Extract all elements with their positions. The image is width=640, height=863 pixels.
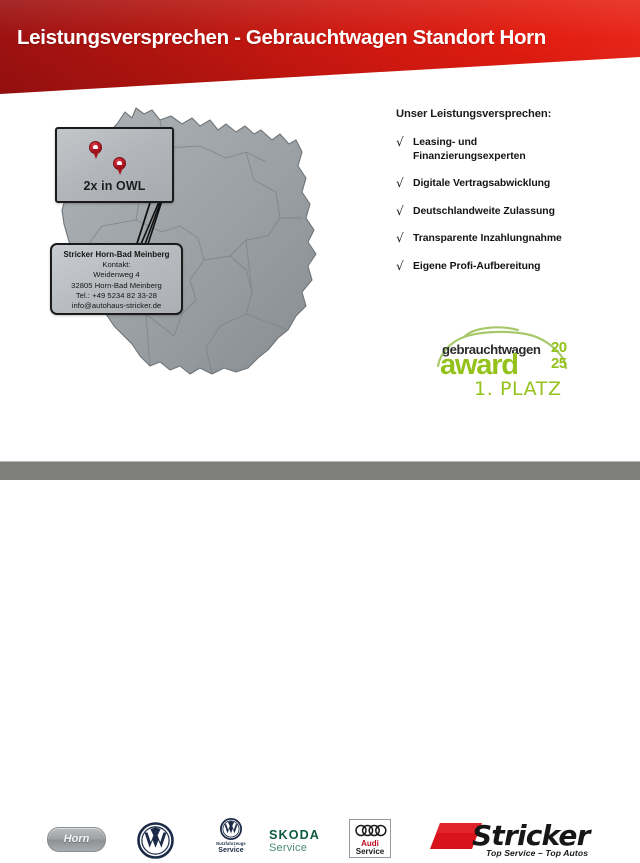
check-icon: √ xyxy=(396,136,413,150)
award-rank: 1. PLATZ xyxy=(474,378,562,400)
location-pin-icon xyxy=(89,141,102,159)
address-email: info@autohaus-stricker.de xyxy=(52,301,181,311)
pin-tip xyxy=(116,165,124,175)
address-line: Stricker Horn-Bad Meinberg xyxy=(52,250,181,260)
award-year: 20 25 xyxy=(551,340,585,371)
vw-logo-icon xyxy=(137,822,174,859)
check-icon: √ xyxy=(396,232,413,246)
address-phone: Tel.: +49 5234 82 33-28 xyxy=(52,291,181,301)
footer-bar xyxy=(0,462,640,480)
owl-callout-box: 2x in OWL xyxy=(55,127,174,203)
location-pin-icon xyxy=(113,157,126,175)
vw-nutzfahrzeuge-service-logo: Nutzfahrzeuge Service xyxy=(203,818,259,854)
promise-item-label: Transparente Inzahlungnahme xyxy=(413,232,562,246)
pin-tip xyxy=(92,149,100,159)
check-icon: √ xyxy=(396,205,413,219)
check-icon: √ xyxy=(396,260,413,274)
promise-item-label: Eigene Profi-Aufbereitung xyxy=(413,260,540,274)
promise-panel: Unser Leistungsversprechen: √ Leasing- u… xyxy=(396,108,636,287)
stricker-logo: Stricker Top Service – Top Autos xyxy=(428,817,598,863)
award-year-bottom: 25 xyxy=(551,356,585,372)
skoda-wordmark: SKODA xyxy=(269,829,320,842)
page-title: Leistungsversprechen - Gebrauchtwagen St… xyxy=(17,26,546,50)
promise-item: √ Leasing- undFinanzierungsexperten xyxy=(396,136,636,163)
award-title: award xyxy=(440,350,518,380)
brand-logo-strip: Horn Nutzfahrzeuge Service SKODA Service xyxy=(0,405,640,462)
dealer-location-label: Horn xyxy=(48,828,105,850)
award-year-top: 20 xyxy=(551,340,585,356)
address-line: Kontakt: xyxy=(52,260,181,270)
promise-item-label: Digitale Vertragsabwicklung xyxy=(413,177,550,191)
dealer-location-pill[interactable]: Horn xyxy=(47,827,106,852)
award-badge: gebrauchtwagen award 20 25 1. PLATZ xyxy=(430,320,590,400)
promise-item-label: Leasing- undFinanzierungsexperten xyxy=(413,136,526,163)
stricker-tagline: Top Service – Top Autos xyxy=(486,848,588,858)
address-line: Weidenweg 4 xyxy=(52,270,181,280)
promise-item: √ Transparente Inzahlungnahme xyxy=(396,232,636,246)
promise-heading: Unser Leistungsversprechen: xyxy=(396,108,636,120)
promise-item: √ Digitale Vertragsabwicklung xyxy=(396,177,636,191)
vw-nfz-label-top: Nutzfahrzeuge xyxy=(203,841,259,846)
audi-rings-icon xyxy=(354,824,388,837)
vw-nfz-label-bottom: Service xyxy=(203,847,259,854)
slide-canvas: Leistungsversprechen - Gebrauchtwagen St… xyxy=(0,0,640,480)
skoda-service-logo: SKODA Service xyxy=(269,829,320,854)
owl-callout-label: 2x in OWL xyxy=(57,179,172,193)
promise-item-label: Deutschlandweite Zulassung xyxy=(413,205,555,219)
address-callout-box: Stricker Horn-Bad Meinberg Kontakt: Weid… xyxy=(50,243,183,315)
address-line: 32805 Horn-Bad Meinberg xyxy=(52,281,181,291)
promise-item: √ Deutschlandweite Zulassung xyxy=(396,205,636,219)
vw-small-logo-icon xyxy=(220,818,242,840)
audi-service-label: Service xyxy=(350,847,390,856)
skoda-service-label: Service xyxy=(269,842,320,854)
check-icon: √ xyxy=(396,177,413,191)
audi-service-logo: Audi Service xyxy=(349,819,391,858)
promise-item: √ Eigene Profi-Aufbereitung xyxy=(396,260,636,274)
